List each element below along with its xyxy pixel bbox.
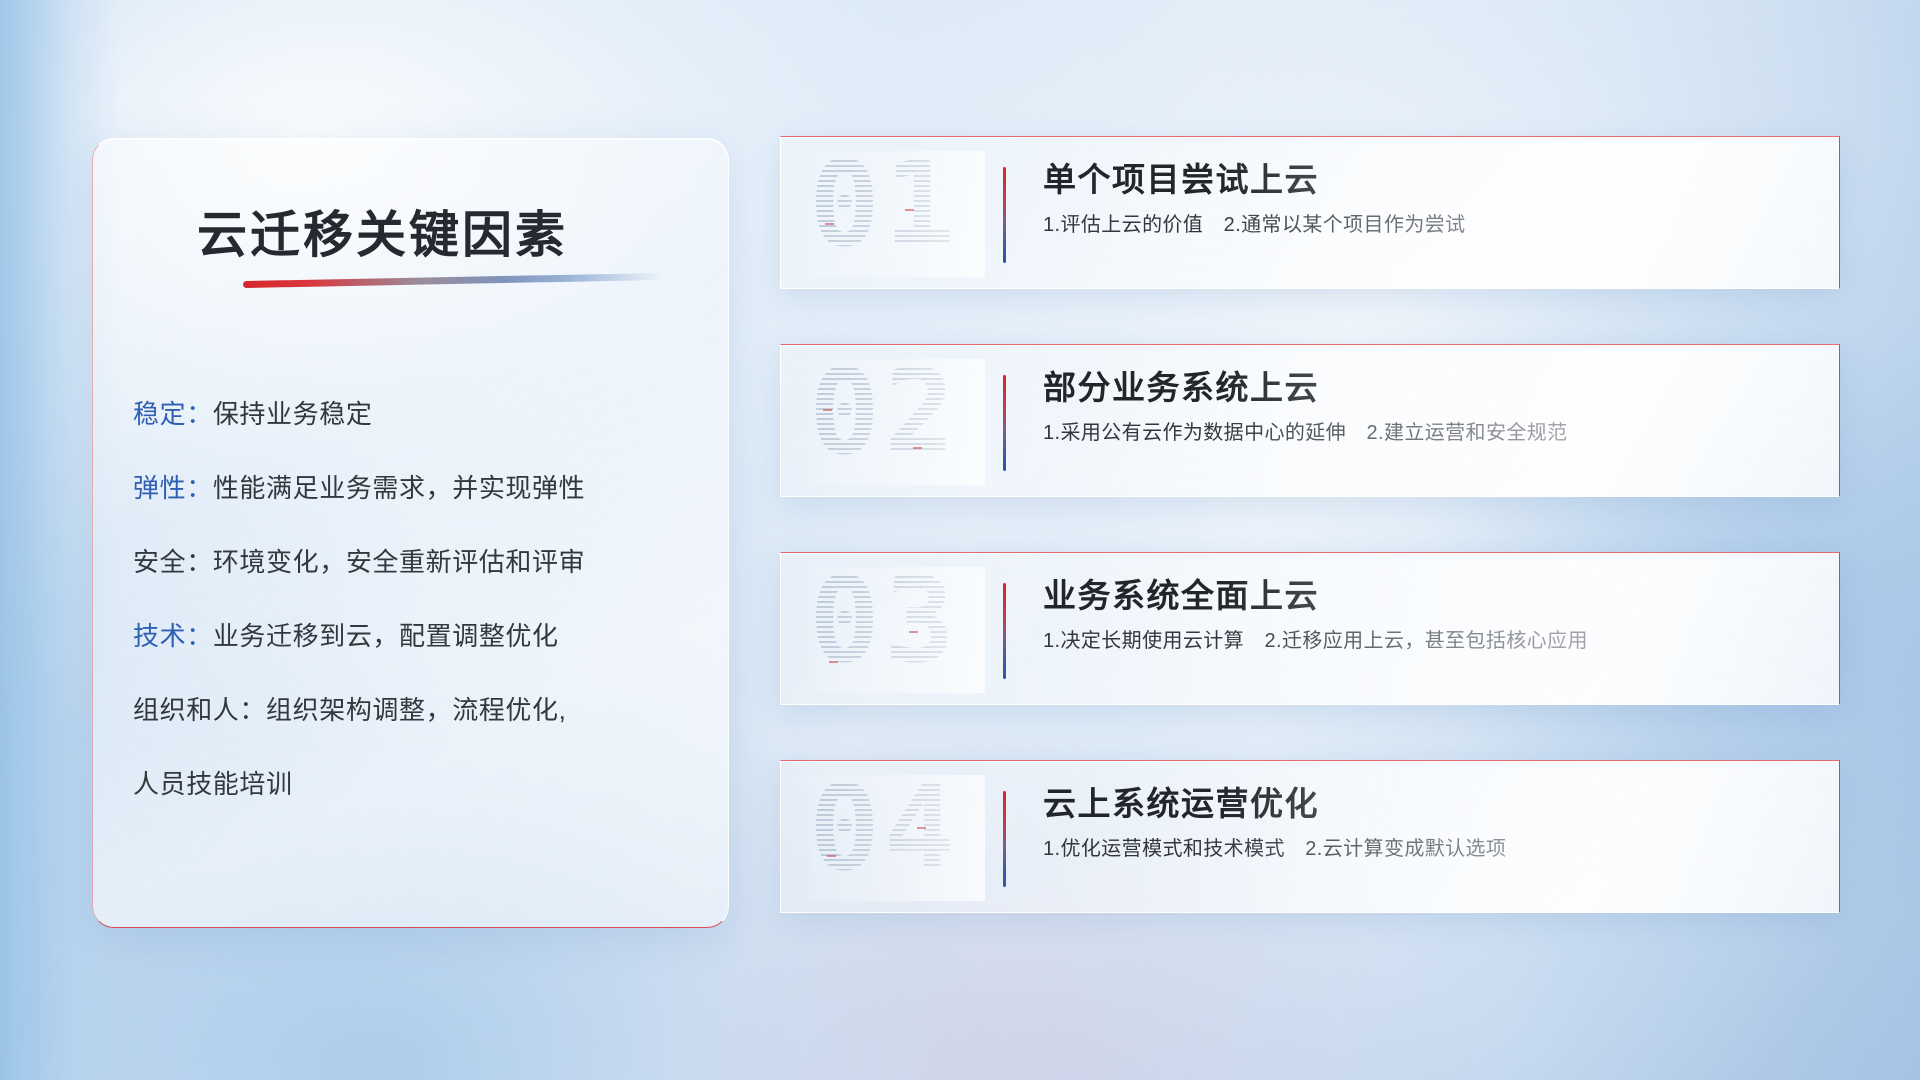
stage-card[interactable]: 01 单个项目尝试上云 1.评估上云的价值 2.通常以某个项目作为尝试 — [780, 136, 1840, 289]
factor-label: 组织和人： — [133, 695, 266, 725]
list-item: 安全：环境变化，安全重新评估和评审 — [133, 525, 702, 599]
stage-number-watermark: 04 — [809, 775, 985, 901]
stage-card-body: 云上系统运营优化 1.优化运营模式和技术模式 2.云计算变成默认选项 — [1043, 783, 1809, 862]
factor-label: 安全： — [133, 547, 213, 577]
list-item: 稳定：保持业务稳定 — [133, 377, 702, 451]
stage-number-fade — [809, 567, 985, 693]
page-title: 云迁移关键因素 — [197, 195, 568, 267]
stage-accent-bar — [1003, 791, 1006, 887]
factor-value: 保持业务稳定 — [213, 399, 373, 429]
factor-label: 技术： — [133, 621, 213, 651]
factor-value: 环境变化，安全重新评估和评审 — [213, 547, 585, 577]
stage-card-description: 1.决定长期使用云计算 2.迁移应用上云，甚至包括核心应用 — [1043, 628, 1809, 654]
title-underline-accent — [243, 273, 663, 288]
factor-value: 组织架构调整，流程优化, — [266, 695, 566, 725]
stage-accent-bar — [1003, 583, 1006, 679]
key-factors-list: 稳定：保持业务稳定 弹性：性能满足业务需求，并实现弹性 安全：环境变化，安全重新… — [133, 377, 702, 821]
slide-stage: 云迁移关键因素 稳定：保持业务稳定 弹性：性能满足业务需求，并实现弹性 安全：环… — [0, 0, 1920, 1080]
stage-card[interactable]: 02 部分业务系统上云 1.采用公有云作为数据中心的延伸 2.建立运营和安全规范 — [780, 344, 1840, 497]
list-item: 组织和人：组织架构调整，流程优化, — [133, 673, 702, 747]
migration-stage-cards: 01 单个项目尝试上云 1.评估上云的价值 2.通常以某个项目作为尝试 02 部… — [780, 136, 1840, 968]
stage-number-watermark: 02 — [809, 359, 985, 485]
stage-card-description: 1.评估上云的价值 2.通常以某个项目作为尝试 — [1043, 212, 1809, 238]
stage-accent-bar — [1003, 375, 1006, 471]
stage-number-glyph: 04 — [809, 775, 959, 897]
stage-card[interactable]: 03 业务系统全面上云 1.决定长期使用云计算 2.迁移应用上云，甚至包括核心应… — [780, 552, 1840, 705]
stage-card-title: 业务系统全面上云 — [1043, 575, 1809, 617]
list-item: 弹性：性能满足业务需求，并实现弹性 — [133, 451, 702, 525]
stage-card-title: 单个项目尝试上云 — [1043, 159, 1809, 201]
factor-value: 性能满足业务需求，并实现弹性 — [213, 473, 585, 503]
stage-number-fade — [809, 151, 985, 277]
factor-value: 业务迁移到云，配置调整优化 — [213, 621, 559, 651]
stage-card-description: 1.采用公有云作为数据中心的延伸 2.建立运营和安全规范 — [1043, 420, 1809, 446]
stage-number-fade — [809, 775, 985, 901]
stage-card-title: 云上系统运营优化 — [1043, 783, 1809, 825]
stage-number-watermark: 01 — [809, 151, 985, 277]
factor-label: 稳定： — [133, 399, 213, 429]
stage-card-body: 部分业务系统上云 1.采用公有云作为数据中心的延伸 2.建立运营和安全规范 — [1043, 367, 1809, 446]
stage-accent-bar — [1003, 167, 1006, 263]
stage-card-description: 1.优化运营模式和技术模式 2.云计算变成默认选项 — [1043, 836, 1809, 862]
stage-number-glyph: 03 — [809, 567, 959, 689]
list-item-continuation: 人员技能培训 — [133, 747, 702, 821]
stage-number-glyph: 01 — [809, 151, 959, 273]
stage-number-watermark: 03 — [809, 567, 985, 693]
key-factors-panel: 云迁移关键因素 稳定：保持业务稳定 弹性：性能满足业务需求，并实现弹性 安全：环… — [92, 138, 729, 928]
factor-label: 弹性： — [133, 473, 213, 503]
stage-number-fade — [809, 359, 985, 485]
stage-number-glyph: 02 — [809, 359, 959, 481]
stage-card[interactable]: 04 云上系统运营优化 1.优化运营模式和技术模式 2.云计算变成默认选项 — [780, 760, 1840, 913]
list-item: 技术：业务迁移到云，配置调整优化 — [133, 599, 702, 673]
stage-card-body: 单个项目尝试上云 1.评估上云的价值 2.通常以某个项目作为尝试 — [1043, 159, 1809, 238]
stage-card-title: 部分业务系统上云 — [1043, 367, 1809, 409]
stage-card-body: 业务系统全面上云 1.决定长期使用云计算 2.迁移应用上云，甚至包括核心应用 — [1043, 575, 1809, 654]
factor-value: 人员技能培训 — [133, 769, 293, 799]
